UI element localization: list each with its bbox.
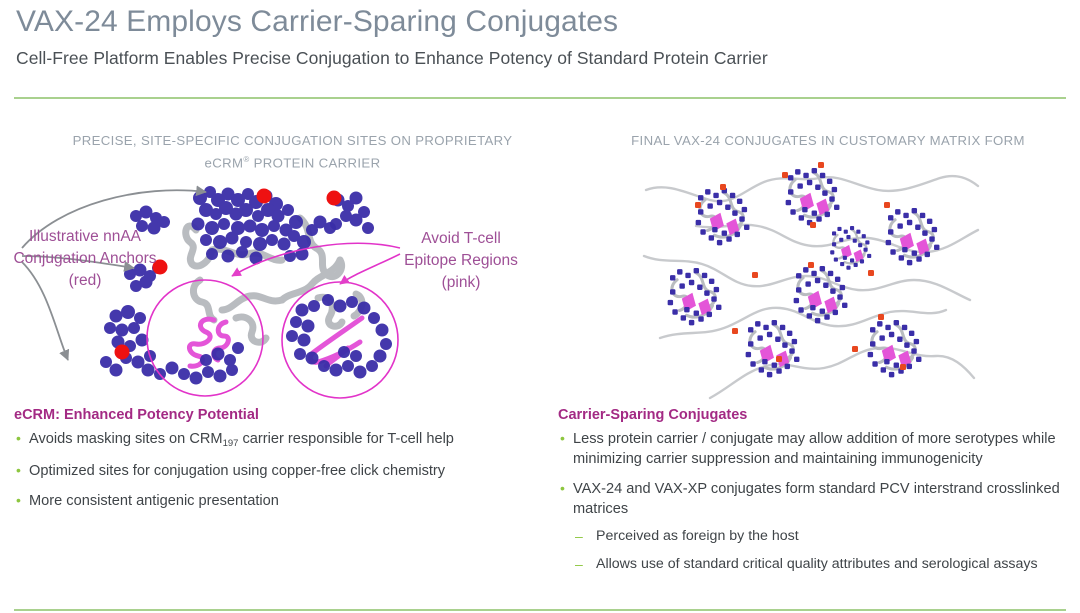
nnaa-anchor-1 [257,189,272,204]
bullet-text-pre: Avoids masking sites on CRM [29,431,223,447]
left-panel-caption: PRECISE, SITE-SPECIFIC CONJUGATION SITES… [40,131,545,172]
sub-list-item: Perceived as foreign by the host [573,526,1070,546]
nnaa-annot-line2: Conjugation Anchors [13,250,156,267]
conjugate-molecule-3 [886,208,940,265]
left-text-column: eCRM: Enhanced Potency Potential Avoids … [14,406,534,521]
epitope-circle-1 [147,280,263,396]
slide-root: VAX-24 Employs Carrier-Sparing Conjugate… [0,0,1080,613]
list-item: Less protein carrier / conjugate may all… [558,429,1070,469]
header-divider [14,97,1066,99]
left-bullet-list: Avoids masking sites on CRM197 carrier r… [14,429,534,511]
nnaa-anchor-4 [115,345,130,360]
nnaa-annot-line3: (red) [69,272,102,289]
page-title: VAX-24 Employs Carrier-Sparing Conjugate… [16,5,618,39]
conjugate-matrix-figure [640,160,980,405]
epitope-annot-line3: (pink) [442,274,481,291]
right-sub-bullet-list: Perceived as foreign by the host Allows … [573,526,1070,574]
sub-bullet-text: Allows use of standard critical quality … [596,556,1038,572]
page-subtitle: Cell-Free Platform Enables Precise Conju… [16,48,768,69]
bullet-text: Less protein carrier / conjugate may all… [573,431,1056,467]
right-bullet-list: Less protein carrier / conjugate may all… [558,429,1070,574]
footer-divider [14,609,1066,611]
list-item: Avoids masking sites on CRM197 carrier r… [14,429,534,451]
epitope-annot-line1: Avoid T-cell [421,230,501,247]
right-section-heading: Carrier-Sparing Conjugates [558,406,1070,424]
nnaa-anchor-2 [327,191,342,206]
bullet-text: VAX-24 and VAX-XP conjugates form standa… [573,481,1060,517]
left-caption-ecrm: eCRM [205,155,244,170]
sub-list-item: Allows use of standard critical quality … [573,554,1070,574]
conjugate-molecule-6 [746,320,800,377]
left-caption-line2-post: PROTEIN CARRIER [250,155,381,170]
nnaa-anchor-annotation: Illustrative nnAA Conjugation Anchors (r… [0,226,174,292]
epitope-annot-line2: Epitope Regions [404,252,518,269]
list-item: Optimized sites for conjugation using co… [14,461,534,481]
crm-subscript: 197 [223,438,239,449]
nnaa-annot-line1: Illustrative nnAA [29,228,141,245]
list-item: More consistent antigenic presentation [14,491,534,511]
bullet-text: Optimized sites for conjugation using co… [29,463,445,479]
epitope-annotation: Avoid T-cell Epitope Regions (pink) [388,228,534,294]
conjugate-molecule-4 [668,268,722,325]
strand-1 [646,176,978,201]
conjugate-molecule-1 [696,188,750,245]
bullet-text-post: carrier responsible for T-cell help [238,431,454,447]
polysaccharide-strands [644,176,978,398]
bullet-text: More consistent antigenic presentation [29,493,279,509]
sub-bullet-text: Perceived as foreign by the host [596,528,799,544]
left-section-heading: eCRM: Enhanced Potency Potential [14,406,534,424]
conjugate-molecule-8 [830,226,871,270]
right-text-column: Carrier-Sparing Conjugates Less protein … [558,406,1070,584]
right-panel-caption: FINAL VAX-24 CONJUGATES IN CUSTOMARY MAT… [578,131,1078,150]
list-item: VAX-24 and VAX-XP conjugates form standa… [558,479,1070,574]
left-caption-line1: PRECISE, SITE-SPECIFIC CONJUGATION SITES… [73,133,513,148]
